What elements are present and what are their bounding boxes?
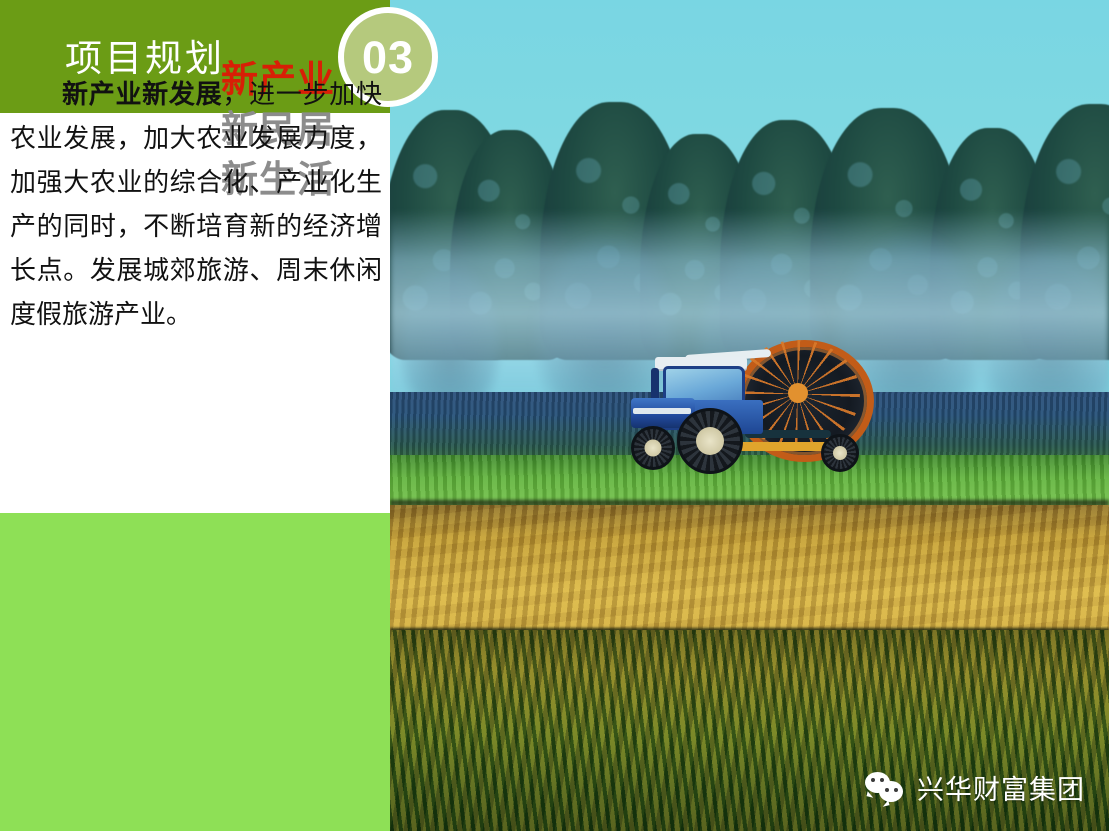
tractor-hood-stripe — [633, 408, 691, 414]
tractor-front-wheel — [631, 426, 675, 470]
body-paragraph-text: ，进一步加快农业发展，加大农业发展力度，加强大农业的综合化、产业化生产的同时，不… — [10, 79, 382, 329]
body-lead-phrase: 新产业新发展 — [62, 79, 222, 109]
hero-photo — [390, 0, 1109, 831]
cart-wheel — [821, 434, 859, 472]
wechat-dot — [880, 778, 884, 782]
wechat-dot — [885, 788, 889, 792]
wheel-rim — [645, 440, 662, 457]
irrigation-reel-hub — [788, 383, 808, 403]
wechat-dot — [871, 778, 875, 782]
watermark: 兴华财富集团 — [865, 768, 1085, 807]
wechat-dot — [894, 788, 898, 792]
body-paragraph: 新产业新发展，进一步加快农业发展，加大农业发展力度，加强大农业的综合化、产业化生… — [10, 72, 382, 336]
tractor-with-irrigation-reel — [625, 330, 895, 475]
slide-canvas: 项目规划 03 新产业 新民居 新生活 新产业新发展，进一步加快农业发展，加大农… — [0, 0, 1109, 831]
wechat-icon — [865, 772, 907, 804]
wechat-bubble-small — [879, 781, 903, 802]
tractor-exhaust-pipe — [651, 368, 659, 402]
tractor-rear-wheel — [677, 408, 743, 474]
wheel-rim — [696, 427, 724, 455]
body-text-panel — [0, 513, 390, 831]
watermark-label: 兴华财富集团 — [917, 768, 1085, 807]
wheel-rim — [833, 446, 847, 460]
